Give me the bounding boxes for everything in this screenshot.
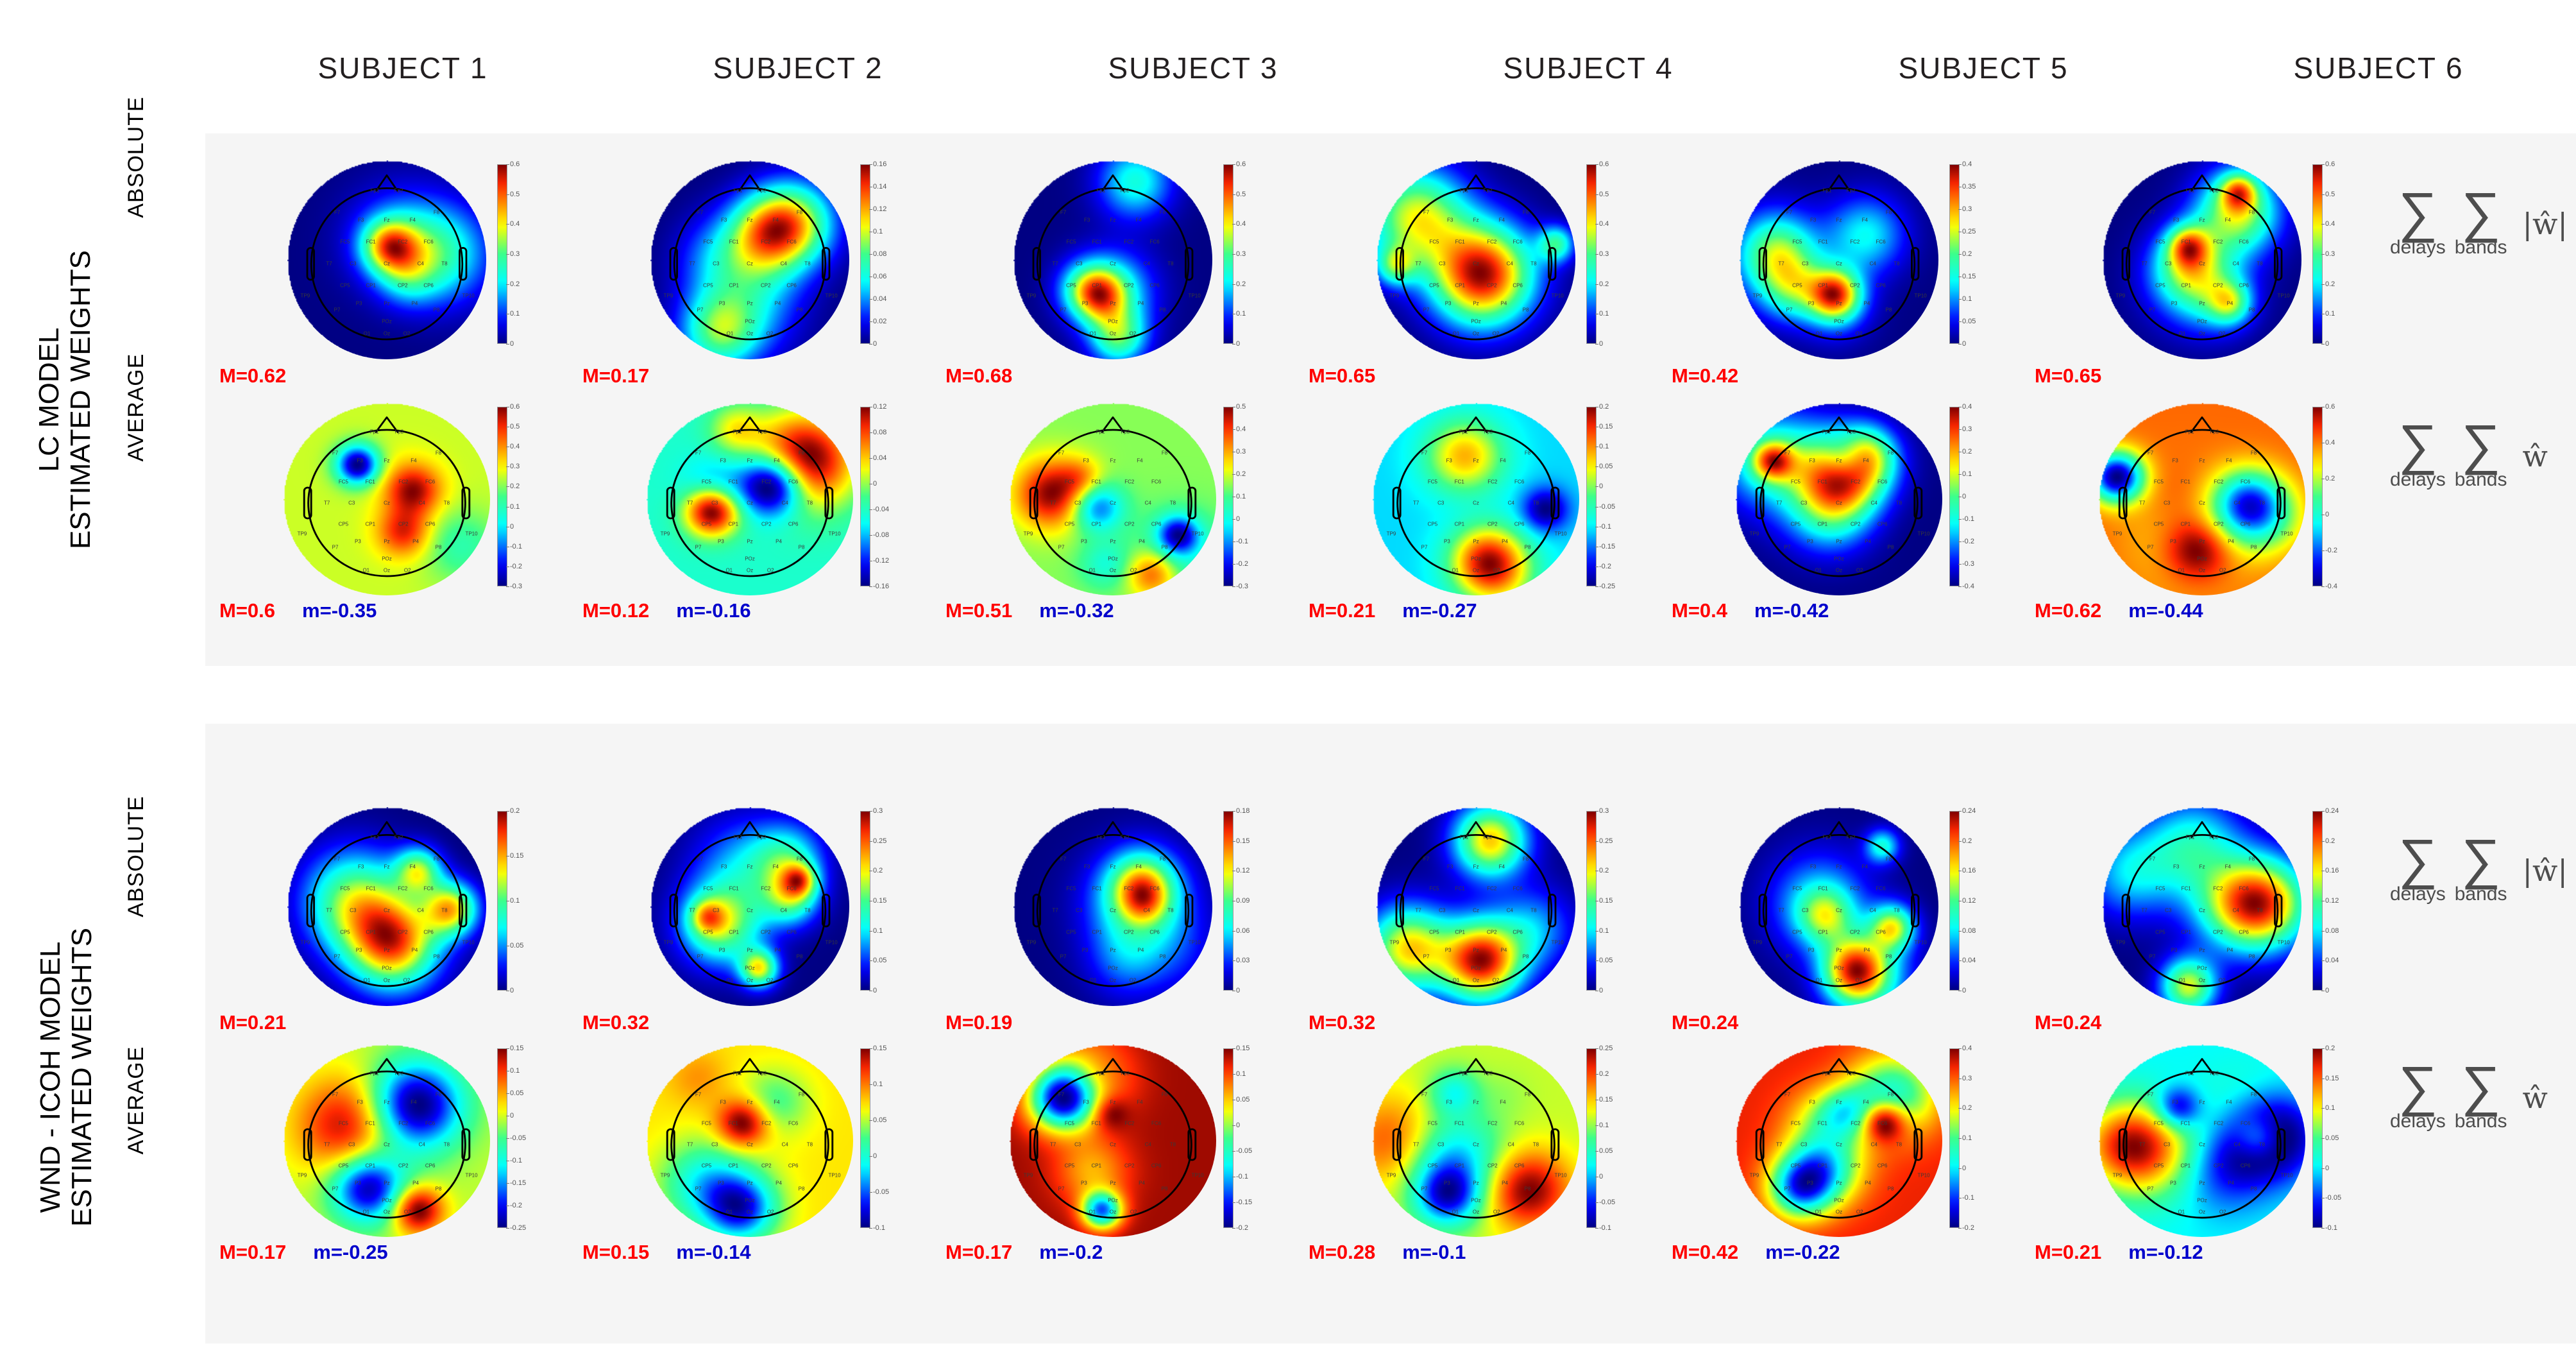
electrode-label-fp1: Fp1 xyxy=(1822,429,1831,435)
electrode-label-t7: T7 xyxy=(1776,1142,1782,1148)
electrode-label-o1: O1 xyxy=(1815,568,1822,574)
electrode-label-cp6: CP6 xyxy=(1876,283,1886,289)
electrode-label-f4: F4 xyxy=(1863,1100,1868,1105)
electrode-label-tp10: TP10 xyxy=(1191,531,1203,537)
colorbar-tick-label: 0.08 xyxy=(873,250,886,258)
electrode-label-fc1: FC1 xyxy=(1818,479,1827,485)
electrode-label-o2: O2 xyxy=(2219,1209,2226,1215)
electrode-label-p8: P8 xyxy=(2251,545,2257,550)
electrode-label-p7: P7 xyxy=(2149,953,2156,959)
electrode-label-oz: Oz xyxy=(1473,568,1479,574)
electrode-label-tp9: TP9 xyxy=(298,531,307,537)
colorbar-tick-label: 0.1 xyxy=(873,1080,883,1088)
colorbar-tick-label: 0.3 xyxy=(1236,448,1246,456)
colorbar-tick-label: -0.1 xyxy=(510,1157,522,1164)
scalp-heatmap-canvas xyxy=(1740,160,1938,359)
electrode-label-p3: P3 xyxy=(719,301,725,307)
electrode-label-cp6: CP6 xyxy=(1151,522,1162,527)
sigma-icon: ∑ xyxy=(2461,190,2500,235)
topoplot-wnd-absolute-subject-3: Fp1Fp2F7F3FzF4F8FC5FC1FC2FC6T7C3CzC4T8CP… xyxy=(1013,807,1212,1006)
max-value-label: M=0.17 xyxy=(219,1241,286,1264)
electrode-label-cz: Cz xyxy=(2199,908,2205,914)
colorbar-tick-label: 0 xyxy=(873,480,877,488)
max-value-label: M=0.42 xyxy=(1672,364,1738,388)
electrode-label-fc2: FC2 xyxy=(761,886,770,892)
colorbar-gradient xyxy=(860,1048,870,1228)
colorbar-tick-label: 0 xyxy=(1962,340,1966,348)
colorbar-tick-label: -0.1 xyxy=(1236,538,1248,545)
model-title-wnd-line2: ESTIMATED WEIGHTS xyxy=(66,928,97,1227)
electrode-label-cz: Cz xyxy=(1836,908,1842,914)
colorbar-tick-label: 0.1 xyxy=(2325,1104,2335,1112)
electrode-label-fc6: FC6 xyxy=(2239,886,2249,892)
electrode-label-tp10: TP10 xyxy=(2278,939,2290,945)
scalp-heatmap-canvas xyxy=(1377,807,1575,1006)
electrode-label-cp1: CP1 xyxy=(1454,1163,1464,1169)
electrode-label-c3: C3 xyxy=(1437,500,1444,506)
row-label-lc-average: AVERAGE xyxy=(122,302,150,513)
model-block-lc: Fp1Fp2F7F3FzF4F8FC5FC1FC2FC6T7C3CzC4T8CP… xyxy=(205,133,2576,666)
colorbar-tick-label: -0.3 xyxy=(1236,583,1248,590)
colorbar-tick-label: 0 xyxy=(1236,340,1240,348)
electrode-label-p4: P4 xyxy=(1137,301,1144,307)
electrode-label-c3: C3 xyxy=(348,1142,355,1148)
electrode-label-poz: POz xyxy=(745,319,755,325)
electrode-label-c4: C4 xyxy=(1508,500,1514,506)
electrode-label-cp2: CP2 xyxy=(2213,930,2223,935)
electrode-label-fz: Fz xyxy=(747,217,753,223)
electrode-label-poz: POz xyxy=(2197,1198,2207,1204)
sum-subscript-delays: delays xyxy=(2390,1111,2446,1132)
colorbar-tick-label: 0 xyxy=(1599,1173,1603,1181)
electrode-label-p4: P4 xyxy=(411,948,418,953)
colorbar-tick-label: 0 xyxy=(1962,493,1966,500)
electrode-label-p7: P7 xyxy=(2148,1186,2154,1192)
electrode-label-cp2: CP2 xyxy=(2214,522,2224,527)
electrode-label-poz: POz xyxy=(1108,1198,1118,1204)
electrode-label-fz: Fz xyxy=(1110,458,1116,464)
electrode-label-tp9: TP9 xyxy=(2116,939,2126,945)
electrode-label-f8: F8 xyxy=(2251,450,2257,456)
electrode-label-pz: Pz xyxy=(1110,948,1115,953)
electrode-label-fp2: Fp2 xyxy=(758,429,767,435)
electrode-label-poz: POz xyxy=(2197,556,2207,562)
electrode-label-o2: O2 xyxy=(1493,330,1500,336)
electrode-label-f8: F8 xyxy=(1525,450,1530,456)
topoplot-lc-absolute-subject-6: Fp1Fp2F7F3FzF4F8FC5FC1FC2FC6T7C3CzC4T8CP… xyxy=(2103,160,2301,359)
electrode-label-fz: Fz xyxy=(2199,458,2205,464)
colorbar-tick-label: 0.35 xyxy=(1962,183,1976,191)
colorbar-tick-label: 0 xyxy=(510,340,514,348)
electrode-label-cp2: CP2 xyxy=(761,283,771,289)
electrode-label-c4: C4 xyxy=(781,908,787,914)
colorbar: 0.60.50.40.30.20.10-0.1-0.2-0.3 xyxy=(497,407,507,586)
electrode-label-fc5: FC5 xyxy=(703,239,713,245)
electrode-label-pz: Pz xyxy=(747,539,752,545)
colorbar-ticks: 0.60.50.40.30.20.10 xyxy=(1599,164,1625,344)
scalp-heatmap-canvas xyxy=(1013,807,1212,1006)
electrode-label-t7: T7 xyxy=(2141,908,2147,914)
electrode-label-fc5: FC5 xyxy=(1429,239,1439,245)
electrode-label-fc5: FC5 xyxy=(1428,479,1437,485)
colorbar: 0.30.250.20.150.10.050 xyxy=(860,811,870,991)
electrode-label-fc2: FC2 xyxy=(761,239,770,245)
electrode-label-f7: F7 xyxy=(334,856,340,862)
electrode-label-cp1: CP1 xyxy=(1092,283,1102,289)
colorbar-tick-label: 0.08 xyxy=(1962,927,1976,935)
electrode-label-p4: P4 xyxy=(2228,539,2234,545)
electrode-label-cp6: CP6 xyxy=(1876,930,1886,935)
min-value-label: m=-0.1 xyxy=(1402,1241,1466,1264)
electrode-label-p4: P4 xyxy=(774,301,781,307)
scalp-heatmap-canvas xyxy=(1010,1044,1216,1237)
colorbar-tick-label: 0 xyxy=(510,523,514,531)
colorbar-ticks: 0.180.150.120.090.060.030 xyxy=(1236,811,1262,991)
electrode-label-f4: F4 xyxy=(411,458,416,464)
electrode-label-p7: P7 xyxy=(1423,307,1430,312)
electrode-label-cp2: CP2 xyxy=(1487,930,1497,935)
electrode-label-fp1: Fp1 xyxy=(370,187,379,193)
electrode-label-fp1: Fp1 xyxy=(1459,187,1468,193)
electrode-label-f3: F3 xyxy=(721,217,727,223)
electrode-label-cp6: CP6 xyxy=(1513,930,1523,935)
electrode-label-cp2: CP2 xyxy=(398,1163,409,1169)
electrode-label-cp5: CP5 xyxy=(1066,283,1076,289)
electrode-label-o1: O1 xyxy=(1089,1209,1096,1215)
electrode-label-c4: C4 xyxy=(1144,261,1150,267)
electrode-label-oz: Oz xyxy=(2199,977,2205,983)
colorbar-ticks: 0.250.20.150.10.050-0.05-0.1 xyxy=(1599,1048,1625,1228)
electrode-label-p3: P3 xyxy=(1808,301,1815,307)
sum-subscript-bands: bands xyxy=(2455,469,2507,491)
electrode-label-p4: P4 xyxy=(2228,1181,2234,1186)
electrode-label-f8: F8 xyxy=(1160,209,1165,215)
electrode-label-fz: Fz xyxy=(384,458,390,464)
electrode-label-cp6: CP6 xyxy=(425,522,436,527)
electrode-label-o2: O2 xyxy=(1130,977,1137,983)
electrode-label-tp10: TP10 xyxy=(1554,1173,1566,1179)
colorbar-tick-label: 0.1 xyxy=(1236,1070,1246,1078)
colorbar-tick-label: 0 xyxy=(873,1152,877,1160)
electrode-label-cp6: CP6 xyxy=(423,283,434,289)
electrode-label-cp5: CP5 xyxy=(339,522,349,527)
electrode-label-pz: Pz xyxy=(747,1181,752,1186)
electrode-label-t7: T7 xyxy=(1415,261,1421,267)
electrode-label-p8: P8 xyxy=(799,545,805,550)
electrode-label-t7: T7 xyxy=(1050,1142,1056,1148)
electrode-label-pz: Pz xyxy=(1836,948,1842,953)
electrode-label-f4: F4 xyxy=(410,217,416,223)
electrode-label-t7: T7 xyxy=(326,261,332,267)
colorbar-tick-label: 0.05 xyxy=(2325,1134,2339,1142)
topoplot-stats: M=0.65 xyxy=(2021,364,2398,388)
electrode-label-tp9: TP9 xyxy=(664,939,674,945)
topoplot-wnd-absolute-subject-5: Fp1Fp2F7F3FzF4F8FC5FC1FC2FC6T7C3CzC4T8CP… xyxy=(1740,807,1938,1006)
colorbar-ticks: 0.40.30.20.10-0.1-0.2-0.3-0.4 xyxy=(1962,407,1988,586)
colorbar-tick-label: 0.1 xyxy=(510,503,520,511)
electrode-label-cz: Cz xyxy=(1473,908,1479,914)
colorbar-tick-label: 0.15 xyxy=(1236,837,1250,845)
electrode-label-cp5: CP5 xyxy=(702,1163,712,1169)
electrode-label-c4: C4 xyxy=(1508,1142,1514,1148)
scalp-map xyxy=(1373,1044,1579,1237)
topoplot-wnd-average-subject-5: Fp1Fp2F7F3FzF4F8FC5FC1FC2FC6T7C3CzC4T8CP… xyxy=(1736,1044,1942,1237)
electrode-label-cz: Cz xyxy=(2199,261,2205,267)
colorbar-tick-label: 0 xyxy=(873,340,877,348)
colorbar-tick-label: -0.16 xyxy=(873,583,889,590)
electrode-label-tp9: TP9 xyxy=(2113,531,2123,537)
max-value-label: M=0.6 xyxy=(219,599,275,622)
electrode-label-f8: F8 xyxy=(436,1092,441,1098)
scalp-map xyxy=(650,160,849,359)
max-value-label: M=0.65 xyxy=(1309,364,1375,388)
electrode-label-cp2: CP2 xyxy=(398,930,408,935)
electrode-label-c3: C3 xyxy=(713,261,719,267)
electrode-label-cp1: CP1 xyxy=(365,1163,375,1169)
electrode-label-f8: F8 xyxy=(799,450,804,456)
colorbar-gradient xyxy=(1586,407,1597,586)
electrode-label-t8: T8 xyxy=(1170,1142,1176,1148)
electrode-label-f3: F3 xyxy=(2173,864,2179,870)
electrode-label-p3: P3 xyxy=(1082,301,1089,307)
colorbar-tick-label: -0.2 xyxy=(1599,563,1611,570)
electrode-label-p7: P7 xyxy=(695,1186,702,1192)
electrode-label-fc6: FC6 xyxy=(1151,1121,1161,1127)
electrode-label-t8: T8 xyxy=(444,1142,450,1148)
electrode-label-cp6: CP6 xyxy=(786,283,797,289)
electrode-label-c4: C4 xyxy=(782,500,788,506)
max-value-label: M=0.15 xyxy=(582,1241,649,1264)
electrode-label-c4: C4 xyxy=(1145,1142,1151,1148)
electrode-label-fp1: Fp1 xyxy=(1822,187,1831,193)
electrode-label-f8: F8 xyxy=(434,856,439,862)
electrode-label-fc1: FC1 xyxy=(366,1121,375,1127)
electrode-label-fc1: FC1 xyxy=(1818,1121,1827,1127)
electrode-label-fc2: FC2 xyxy=(761,1121,771,1127)
electrode-label-f8: F8 xyxy=(2251,1092,2257,1098)
electrode-label-c3: C3 xyxy=(350,261,356,267)
colorbar-tick-label: 0.05 xyxy=(1599,1147,1613,1155)
colorbar-tick-label: 0.25 xyxy=(1962,228,1976,235)
electrode-label-c4: C4 xyxy=(1144,908,1150,914)
electrode-label-fc5: FC5 xyxy=(1065,479,1074,485)
colorbar-tick-label: 0.15 xyxy=(1599,897,1613,905)
colorbar-tick-label: 0.15 xyxy=(510,1044,523,1052)
electrode-label-fc1: FC1 xyxy=(2182,239,2191,245)
electrode-label-f7: F7 xyxy=(1784,450,1790,456)
electrode-label-f8: F8 xyxy=(797,209,802,215)
electrode-label-tp10: TP10 xyxy=(1917,1173,1929,1179)
electrode-label-cp6: CP6 xyxy=(1151,1163,1162,1169)
electrode-label-cz: Cz xyxy=(747,261,753,267)
min-value-label: m=-0.32 xyxy=(1039,599,1114,622)
electrode-label-fc6: FC6 xyxy=(1877,1121,1887,1127)
electrode-label-o2: O2 xyxy=(1493,1209,1500,1215)
colorbar-tick-label: 0.08 xyxy=(2325,927,2339,935)
electrode-label-f4: F4 xyxy=(411,1100,416,1105)
electrode-label-pz: Pz xyxy=(1110,539,1115,545)
electrode-label-c3: C3 xyxy=(1802,261,1808,267)
colorbar-tick-label: 0.25 xyxy=(1599,1044,1613,1052)
electrode-label-f3: F3 xyxy=(1809,458,1815,464)
topoplot-stats: M=0.24 xyxy=(1657,1011,2035,1034)
sigma-icon: ∑ xyxy=(2461,837,2500,882)
electrode-label-fc1: FC1 xyxy=(366,479,375,485)
electrode-label-p4: P4 xyxy=(2226,301,2233,307)
electrode-label-f4: F4 xyxy=(1500,458,1505,464)
electrode-label-c3: C3 xyxy=(1074,500,1081,506)
electrode-label-t7: T7 xyxy=(2141,261,2147,267)
colorbar-ticks: 0.60.40.20-0.2-0.4 xyxy=(2325,407,2351,586)
colorbar-tick-label: 0.6 xyxy=(2325,403,2335,411)
sigma-icon: ∑ xyxy=(2398,1064,2437,1109)
electrode-label-fp2: Fp2 xyxy=(394,187,403,193)
electrode-label-fp1: Fp1 xyxy=(1459,429,1468,435)
electrode-label-f3: F3 xyxy=(358,864,364,870)
sum-over-bands: ∑ bands xyxy=(2455,422,2507,491)
electrode-label-fz: Fz xyxy=(2199,864,2205,870)
electrode-label-oz: Oz xyxy=(747,1209,753,1215)
electrode-label-p7: P7 xyxy=(332,1186,339,1192)
min-value-label: m=-0.22 xyxy=(1765,1241,1840,1264)
electrode-label-o2: O2 xyxy=(404,1209,411,1215)
colorbar-tick-label: 0.5 xyxy=(1599,191,1609,198)
electrode-label-p4: P4 xyxy=(774,948,781,953)
colorbar-tick-label: 0.05 xyxy=(1962,318,1976,325)
electrode-label-cp6: CP6 xyxy=(423,930,434,935)
electrode-label-oz: Oz xyxy=(1836,1209,1842,1215)
colorbar-ticks: 0.60.50.40.30.20.10 xyxy=(1236,164,1262,344)
electrode-label-p3: P3 xyxy=(719,948,725,953)
colorbar-tick-label: 0 xyxy=(1236,515,1240,523)
electrode-label-cp6: CP6 xyxy=(2239,930,2249,935)
electrode-label-fp1: Fp1 xyxy=(1096,429,1105,435)
electrode-label-o2: O2 xyxy=(767,330,774,336)
electrode-label-p3: P3 xyxy=(355,1181,361,1186)
electrode-label-p8: P8 xyxy=(1160,953,1166,959)
electrode-label-c3: C3 xyxy=(1801,1142,1807,1148)
topoplot-stats: M=0.21m=-0.12 xyxy=(2021,1241,2398,1264)
electrode-label-fc6: FC6 xyxy=(2239,239,2249,245)
electrode-label-t8: T8 xyxy=(804,908,810,914)
colorbar-tick-label: 0.12 xyxy=(873,205,886,213)
electrode-label-f7: F7 xyxy=(2149,856,2155,862)
electrode-label-c4: C4 xyxy=(418,261,424,267)
colorbar-tick-label: 0.12 xyxy=(1236,867,1250,874)
electrode-label-tp9: TP9 xyxy=(1390,939,1400,945)
electrode-label-cz: Cz xyxy=(384,908,390,914)
electrode-label-p7: P7 xyxy=(334,307,341,312)
electrode-label-fp2: Fp2 xyxy=(1484,187,1493,193)
electrode-label-fp2: Fp2 xyxy=(1847,834,1856,840)
colorbar-tick-label: 0.5 xyxy=(1236,191,1246,198)
electrode-label-oz: Oz xyxy=(1473,977,1479,983)
max-value-label: M=0.17 xyxy=(582,364,649,388)
model-title-wnd-line1: WND - ICOH MODEL xyxy=(35,928,66,1227)
electrode-label-cp1: CP1 xyxy=(366,283,376,289)
electrode-label-fc6: FC6 xyxy=(1514,1121,1524,1127)
scalp-heatmap-canvas xyxy=(284,403,490,595)
electrode-label-tp9: TP9 xyxy=(2116,293,2126,298)
electrode-label-fz: Fz xyxy=(1836,458,1842,464)
scalp-heatmap-canvas xyxy=(650,160,849,359)
electrode-label-p7: P7 xyxy=(2148,545,2154,550)
electrode-label-pz: Pz xyxy=(384,539,389,545)
colorbar: 0.40.350.30.250.20.150.10.050 xyxy=(1949,164,1960,344)
colorbar-tick-label: -0.05 xyxy=(510,1134,526,1142)
electrode-label-f8: F8 xyxy=(799,1092,804,1098)
colorbar-tick-label: 0.2 xyxy=(510,807,520,815)
colorbar-tick-label: 0.3 xyxy=(1962,1075,1972,1082)
topoplot-wnd-absolute-subject-4: Fp1Fp2F7F3FzF4F8FC5FC1FC2FC6T7C3CzC4T8CP… xyxy=(1377,807,1575,1006)
electrode-label-cp5: CP5 xyxy=(1065,1163,1075,1169)
electrode-label-p8: P8 xyxy=(434,307,440,312)
electrode-label-fp1: Fp1 xyxy=(2185,1071,2194,1077)
electrode-label-f7: F7 xyxy=(1058,1092,1064,1098)
electrode-label-cp6: CP6 xyxy=(1149,930,1160,935)
colorbar-tick-label: 0.06 xyxy=(1236,927,1250,935)
electrode-label-cp5: CP5 xyxy=(1792,283,1802,289)
electrode-label-fc1: FC1 xyxy=(366,886,376,892)
electrode-label-fz: Fz xyxy=(384,217,390,223)
electrode-label-cp6: CP6 xyxy=(1149,283,1160,289)
electrode-label-poz: POz xyxy=(1108,966,1118,971)
electrode-label-t8: T8 xyxy=(1533,500,1539,506)
electrode-label-cp1: CP1 xyxy=(1092,930,1102,935)
colorbar-tick-label: -0.25 xyxy=(1599,583,1615,590)
electrode-label-p3: P3 xyxy=(2171,948,2178,953)
electrode-label-t8: T8 xyxy=(807,1142,813,1148)
electrode-label-fc5: FC5 xyxy=(1066,886,1076,892)
colorbar-tick-label: 0.05 xyxy=(510,942,523,950)
colorbar-tick-label: 0 xyxy=(1599,987,1603,994)
electrode-label-t7: T7 xyxy=(687,500,693,506)
electrode-label-f3: F3 xyxy=(1447,217,1453,223)
electrode-label-f7: F7 xyxy=(1421,1092,1427,1098)
electrode-label-fz: Fz xyxy=(747,1100,753,1105)
electrode-label-oz: Oz xyxy=(384,977,390,983)
electrode-label-fc6: FC6 xyxy=(788,479,798,485)
scalp-map xyxy=(1373,403,1579,595)
electrode-label-fc6: FC6 xyxy=(1876,239,1886,245)
electrode-label-fc5: FC5 xyxy=(1791,1121,1801,1127)
electrode-label-o1: O1 xyxy=(1815,1209,1822,1215)
weight-term: |ŵ| xyxy=(2522,207,2567,241)
electrode-label-oz: Oz xyxy=(1473,1209,1479,1215)
electrode-label-o2: O2 xyxy=(2219,568,2226,574)
colorbar-ticks: 0.40.30.20.10-0.1-0.2 xyxy=(1962,1048,1988,1228)
topoplot-stats: M=0.17m=-0.25 xyxy=(205,1241,582,1264)
electrode-label-fc6: FC6 xyxy=(1150,239,1160,245)
colorbar-tick-label: -0.2 xyxy=(510,563,522,570)
colorbar: 0.150.10.050-0.05-0.1-0.15-0.2 xyxy=(1223,1048,1233,1228)
electrode-label-cp2: CP2 xyxy=(1124,522,1135,527)
electrode-label-fc6: FC6 xyxy=(1151,479,1161,485)
row-label-wnd-icoh-average: AVERAGE xyxy=(122,994,150,1206)
colorbar-tick-label: 0 xyxy=(1236,1121,1240,1129)
sigma-icon: ∑ xyxy=(2398,837,2437,882)
electrode-label-f7: F7 xyxy=(695,1092,701,1098)
electrode-label-fc5: FC5 xyxy=(2155,239,2165,245)
electrode-label-oz: Oz xyxy=(1110,977,1116,983)
electrode-label-p8: P8 xyxy=(797,307,803,312)
colorbar-tick-label: 0.1 xyxy=(873,228,883,235)
topoplot-wnd-absolute-subject-2: Fp1Fp2F7F3FzF4F8FC5FC1FC2FC6T7C3CzC4T8CP… xyxy=(650,807,849,1006)
column-header-subject-2: SUBJECT 2 xyxy=(600,42,996,94)
colorbar-tick-label: 0.2 xyxy=(510,280,520,288)
electrode-label-fz: Fz xyxy=(1110,217,1116,223)
electrode-label-fc1: FC1 xyxy=(1092,479,1101,485)
